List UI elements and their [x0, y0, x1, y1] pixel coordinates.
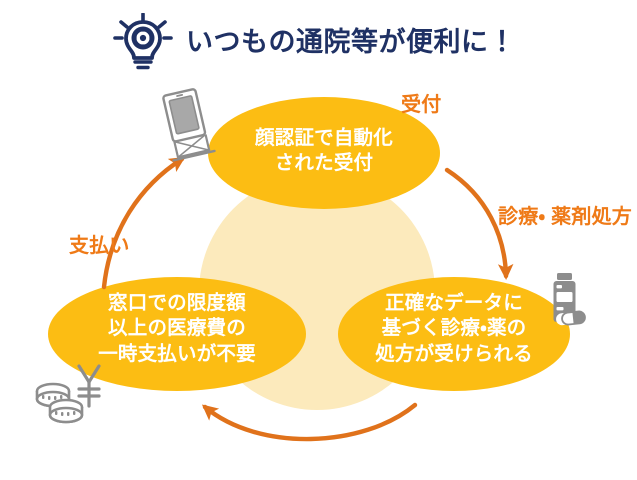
stage-label-treatment-line-2: 薬剤処方 [551, 206, 632, 228]
infographic-canvas: いつもの通院等が便利に！ 顔認証で自動化 された受付 [0, 0, 637, 480]
stage-label-treatment: 診療・ 薬剤処方 [498, 205, 632, 231]
cycle-diagram: 顔認証で自動化 された受付 窓口での限度額 以上の医療費の 一時支払いが不要 正… [0, 0, 637, 480]
arrow-payment-to-reception [104, 159, 182, 287]
stage-label-reception: 受付 [401, 93, 441, 119]
stage-label-payment: 支払い [69, 234, 130, 260]
tablet-kiosk-icon [158, 88, 220, 162]
yen-coins-icon [33, 362, 107, 424]
medicine-bottle-icon [548, 272, 588, 332]
node-treatment-shape[interactable] [338, 277, 570, 391]
stage-label-treatment-line-1: 診療・ [498, 206, 545, 228]
arrow-treatment-to-payment [205, 405, 415, 439]
